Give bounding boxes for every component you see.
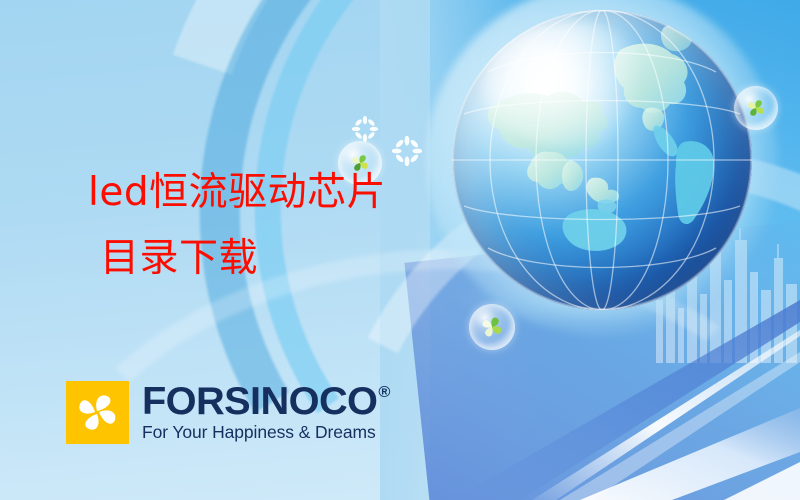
headline-line-1: led恒流驱动芯片: [88, 170, 386, 215]
globe-sphere: [452, 10, 752, 310]
brand-name-row: FORSINOCO ®: [142, 383, 390, 421]
brand-tagline: For Your Happiness & Dreams: [142, 422, 385, 442]
headline-line-2: 目录下载: [88, 226, 386, 292]
brand-logo: FORSINOCO ® For Your Happiness & Dreams: [66, 381, 385, 444]
forsinoco-flower-icon: [66, 381, 129, 444]
globe-halo: [426, 0, 778, 336]
headline: led恒流驱动芯片 目录下载: [88, 160, 386, 292]
background-wash-bottom-right: [404, 219, 800, 500]
sparkle-icon-left: [352, 116, 378, 142]
brand-name: FORSINOCO: [142, 383, 377, 421]
city-skyline-icon: [650, 228, 800, 363]
bubble-right-edge: [734, 86, 778, 130]
globe-highlight: [482, 22, 656, 148]
brand-text: FORSINOCO ® For Your Happiness & Dreams: [142, 383, 385, 442]
pinwheel-icon-3: [480, 315, 504, 339]
globe-rim: [452, 10, 752, 310]
registered-mark: ®: [378, 385, 389, 401]
sparkle-icon-right: [392, 136, 422, 166]
globe-continents: [452, 10, 752, 310]
globe-shadow: [452, 272, 702, 326]
bubble-lower-center: [469, 304, 515, 350]
pinwheel-icon-1: [745, 97, 767, 119]
earth-globe: [452, 10, 752, 310]
promo-banner: led恒流驱动芯片 目录下载 FORSINOCO ® For Your Happ…: [0, 0, 800, 500]
